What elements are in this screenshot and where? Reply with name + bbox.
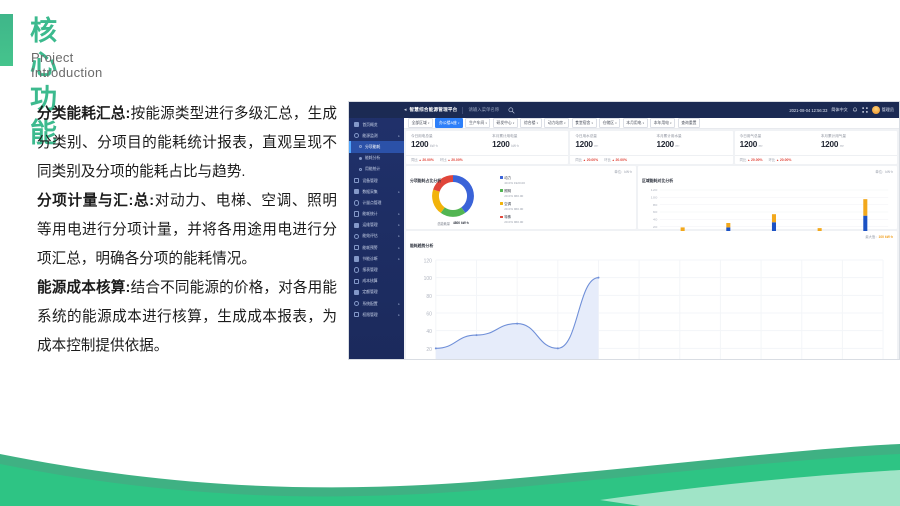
donut-panel-title: 分项能耗占比分析 [410,178,441,183]
kpi-value: 1200 [575,140,592,149]
sidebar-item-label: 用能统计 [365,166,380,172]
filter-tab-2[interactable]: 生产车间▾ [465,118,490,127]
avatar [872,106,880,114]
bar-ytick: 60 [653,211,658,214]
filter-tab-label: 生产车间 [469,121,484,126]
sidebar-item-13[interactable]: 报表管理 [349,264,404,275]
area-chart-panel: 能耗趋势分析 最大值：100 kW·h 02040608010012001020… [406,231,897,359]
bar-ytick: 100 [651,196,658,199]
filter-tab-label: 综合楼 [524,121,535,126]
gauge-icon [354,234,359,239]
area-ytick: 100 [424,276,433,282]
donut-chart-panel: 分项能耗占比分析 单位：kW·h 总能耗量 4800 kW·h 动力40.0% … [406,166,636,229]
legend-top: 特殊 [500,214,525,219]
kpi-delta-0: 同比▲20.00% [411,157,434,162]
bell-icon[interactable] [852,107,858,113]
legend-top: 动力 [500,175,525,180]
sidebar-item-label: 能耗统计 [362,211,377,217]
delta-percent: 20.00% [616,158,628,162]
arrow-up-icon: ▲ [419,158,422,162]
sidebar-item-label: 报表管理 [362,267,377,273]
legend-label: 照明 [504,188,511,193]
kpi-delta-1: 环比▲20.00% [604,157,627,162]
kpi-card-1-0: 今日用水总量1200m³ [570,134,651,155]
kpi-unit: kW·h [430,144,438,148]
kpi-group-1: 今日用水总量1200m³本月累计用水量1200m³同比▲20.00%环比▲20.… [570,131,732,164]
meter-icon [354,200,359,205]
kpi-footer: 同比▲20.00%环比▲20.00% [570,155,732,164]
filter-tab-8[interactable]: 本月用电▾ [623,118,648,127]
data-icon [354,189,359,194]
chevron-right-icon: ▸ [398,223,400,227]
sidebar-item-17[interactable]: 权限管理▸ [349,309,404,320]
sidebar-item-2[interactable]: 分项能耗 [349,141,404,152]
username-label: 管理员 [882,107,894,113]
chevron-down-icon: ▾ [485,121,486,125]
settings-icon [354,301,359,306]
top-navbar: ◂ 智慧综合能源管理平台 请输入菜单名称 2021-08-04 12:56:33… [349,102,899,118]
bar-segment-4-1 [863,199,867,216]
chart-icon [354,211,359,216]
legend-sublabel: 40.0% 1920.00 [504,181,525,185]
chevron-right-icon: ▸ [398,190,400,194]
kpi-value-row: 1200kW·h [411,140,487,149]
area-panel-title: 能耗趋势分析 [410,243,433,248]
kpi-footer: 同比▲20.00%环比▲20.00% [735,155,897,164]
sidebar-item-label: 成本核算 [362,278,377,284]
sidebar-item-label: 能耗预警 [362,245,377,251]
filter-tab-1[interactable]: 办公楼A座▾ [435,118,463,127]
kpi-value: 1200 [740,140,757,149]
area-point-0 [435,347,437,349]
unit-value: kW·h [624,170,632,174]
cost-icon [354,279,359,284]
bar-segment-2-1 [772,214,776,222]
kpi-unit: m³ [840,144,844,148]
donut-unit-label: 单位：kW·h [614,169,632,174]
area-ytick: 120 [424,258,433,264]
chevron-down-icon: ▾ [564,121,565,125]
legend-item-2[interactable]: 空调20.0% 960.00 [500,201,525,211]
bar-panel-title: 区域能耗对比分析 [642,178,673,183]
legend-swatch [500,216,503,219]
donut-total-value: 4800 kW·h [453,221,469,226]
area-point-2 [516,323,518,325]
donut-legend: 动力40.0% 1920.00照明20.0% 960.00空调20.0% 960… [500,175,525,224]
chevron-right-icon: ▸ [398,313,400,317]
kpi-label: 本月累计用电量 [492,134,568,139]
legend-item-3[interactable]: 特殊20.0% 960.00 [500,214,525,224]
sidebar-item-4[interactable]: 用能统计 [349,164,404,175]
filter-tab-label: 本年用电 [654,121,669,126]
sidebar-item-label: 运维管理 [362,222,377,228]
chevron-down-icon: ▾ [458,121,459,125]
paragraph-1: 分类能耗汇总:按能源类型进行多级汇总，生成分类别、分项目的能耗统计报表，直观呈现… [37,100,337,187]
kpi-value-row: 1200m³ [575,140,651,149]
kpi-value: 1200 [821,140,838,149]
legend-label: 动力 [504,175,511,180]
legend-item-0[interactable]: 动力40.0% 1920.00 [500,175,525,185]
language-switcher[interactable]: 简体中文 [831,107,847,113]
bar-unit-label: 单位：kW·h [875,169,893,174]
sidebar-item-label: 首页概览 [362,122,377,128]
delta-percent: 20.00% [451,158,463,162]
unit-value: kW·h [885,170,893,174]
area-ytick: 60 [426,311,432,317]
filter-tab-10[interactable]: 查询重置 [678,118,700,127]
legend-sublabel: 20.0% 960.00 [504,220,525,224]
paragraph-3: 能源成本核算:结合不同能源的价格，对各用能系统的能源成本进行核算，生成成本报表，… [37,274,337,361]
kpi-footer: 同比▲20.00%环比▲20.00% [406,155,568,164]
kpi-value-row: 1200m³ [821,140,897,149]
sidebar-item-label: 计量点管理 [362,200,381,206]
chart-row: 分项能耗占比分析 单位：kW·h 总能耗量 4800 kW·h 动力40.0% … [404,164,899,229]
kpi-unit: m³ [676,144,680,148]
tools-icon [354,223,359,228]
search-input[interactable]: 请输入菜单名称 [468,107,499,113]
filter-tab-label: 全部区域 [412,121,427,126]
chevron-down-icon: ▾ [592,121,593,125]
auth-icon [354,312,359,317]
paragraph-3-lead: 能源成本核算: [37,280,130,296]
area-point-3 [557,347,559,349]
kpi-card-2-1: 本月累计用气量1200m³ [816,134,897,155]
kpi-card-0-0: 今日用电总量1200kW·h [406,134,487,155]
sidebar-item-label: 节能诊断 [362,256,377,262]
dashboard-icon [354,122,359,127]
max-prefix: 最大值： [865,235,878,239]
diagnose-icon [354,256,359,261]
bullet-icon [359,168,362,171]
arrow-up-icon: ▲ [612,158,615,162]
sidebar-item-14[interactable]: 成本核算 [349,276,404,287]
collapse-icon[interactable]: ◂ [404,107,407,113]
arrow-up-icon: ▲ [447,158,450,162]
arrow-up-icon: ▲ [583,158,586,162]
sidebar-item-label: 系统配置 [362,301,377,307]
legend-sublabel: 20.0% 960.00 [504,194,525,198]
sidebar-item-label: 能源监测 [362,133,377,139]
chevron-right-icon: ▸ [398,212,400,216]
filter-tab-7[interactable]: 仓储区▾ [599,118,620,127]
delta-name: 同比 [740,157,747,162]
sidebar-item-15[interactable]: 定额管理 [349,287,404,298]
search-icon[interactable] [508,107,515,114]
bullet-icon [359,157,362,160]
bar-chart-panel: 区域能耗对比分析 单位：kW·h 020406080100120A区B区C区D区… [638,166,897,229]
quota-icon [354,290,359,295]
kpi-value-row: 1200kW·h [492,140,568,149]
sidebar-item-label: 数据采集 [362,189,377,195]
delta-percent: 20.00% [422,158,434,162]
sidebar: 首页概览能源监测▸分项能耗能耗分析用能统计设备管理数据采集▸计量点管理能耗统计▸… [349,102,404,360]
chevron-down-icon: ▾ [643,121,644,125]
area-point-4 [597,277,599,279]
filter-tab-0[interactable]: 全部区域▾ [408,118,433,127]
sidebar-item-7[interactable]: 计量点管理 [349,197,404,208]
filter-tab-6[interactable]: 食堂宿舍▾ [572,118,597,127]
kpi-group-0: 今日用电总量1200kW·h本月累计用电量1200kW·h同比▲20.00%环比… [406,131,568,164]
divider [462,107,463,114]
delta-name: 环比 [769,157,776,162]
donut-segment-0 [453,179,470,211]
kpi-label: 本月累计用水量 [657,134,733,139]
bar-ytick: 120 [651,189,658,192]
chevron-down-icon: ▾ [670,121,671,125]
report-icon [354,267,359,272]
area-ytick: 20 [426,347,432,353]
chevron-down-icon: ▾ [513,121,514,125]
filter-tab-label: 食堂宿舍 [575,121,590,126]
sidebar-item-12[interactable]: 节能诊断▸ [349,253,404,264]
filter-tab-label: 本月用电 [626,121,641,126]
kpi-cards: 今日用水总量1200m³本月累计用水量1200m³ [570,134,732,155]
kpi-card-2-0: 今日用气总量1200m³ [735,134,816,155]
legend-top: 空调 [500,201,525,206]
delta-percent: 20.00% [780,158,792,162]
chevron-down-icon: ▾ [615,121,616,125]
filter-tab-5[interactable]: 动力站房▾ [544,118,569,127]
page-subtitle: Project Introduction [31,50,103,80]
legend-label: 特殊 [504,214,511,219]
paragraph-1-lead: 分类能耗汇总: [37,106,130,122]
user-menu[interactable]: 管理员 [872,106,894,114]
sidebar-item-16[interactable]: 系统配置▸ [349,298,404,309]
sidebar-item-label: 能耗分析 [365,155,380,161]
chevron-down-icon: ▾ [537,121,538,125]
legend-item-1[interactable]: 照明20.0% 960.00 [500,188,525,198]
sidebar-item-8[interactable]: 能耗统计▸ [349,209,404,220]
sidebar-item-3[interactable]: 能耗分析 [349,153,404,164]
paragraph-2-lead: 分项计量与汇:总: [37,193,154,209]
area-ytick: 80 [426,294,432,300]
kpi-unit: m³ [759,144,763,148]
clock-text: 2021-08-04 12:56:33 [789,108,827,113]
kpi-value-row: 1200m³ [740,140,816,149]
kpi-row: 今日用电总量1200kW·h本月累计用电量1200kW·h同比▲20.00%环比… [404,129,899,164]
filter-tab-label: 查询重置 [681,121,696,126]
area-max-label: 最大值：100 kW·h [865,234,893,239]
filter-tab-label: 研发中心 [497,121,512,126]
title-accent-bar [0,14,13,66]
filter-tab-9[interactable]: 本年用电▾ [650,118,675,127]
sidebar-item-1[interactable]: 能源监测▸ [349,130,404,141]
donut-total-label: 总能耗量 [437,221,450,226]
kpi-card-1-1: 本月累计用水量1200m³ [652,134,733,155]
delta-name: 环比 [604,157,611,162]
paragraph-2: 分项计量与汇:总:对动力、电梯、空调、照明等用电进行分项计量，并将各用途用电进行… [37,187,337,274]
sidebar-item-label: 定额管理 [362,289,377,295]
chevron-right-icon: ▸ [398,257,400,261]
monitor-icon [354,133,359,138]
body-copy: 分类能耗汇总:按能源类型进行多级汇总，生成分类别、分项目的能耗统计报表，直观呈现… [37,100,337,361]
chevron-right-icon: ▸ [398,134,400,138]
legend-swatch [500,202,503,205]
kpi-delta-1: 环比▲20.00% [769,157,792,162]
chevron-down-icon: ▾ [428,121,429,125]
legend-swatch [500,176,503,179]
bar-segment-1-1 [726,223,730,227]
bar-ytick: 80 [653,204,658,207]
sidebar-item-label: 设备管理 [362,178,377,184]
kpi-delta-1: 环比▲20.00% [440,157,463,162]
delta-percent: 20.00% [751,158,763,162]
filter-tab-4[interactable]: 综合楼▾ [520,118,541,127]
kpi-unit: m³ [594,144,598,148]
fullscreen-icon[interactable] [862,107,868,113]
kpi-value-row: 1200m³ [657,140,733,149]
kpi-label: 今日用气总量 [740,134,816,139]
sidebar-item-6[interactable]: 数据采集▸ [349,186,404,197]
donut-total-caption: 总能耗量 4800 kW·h [437,221,469,226]
delta-percent: 20.00% [587,158,599,162]
arrow-up-icon: ▲ [776,158,779,162]
alarm-icon [354,245,359,250]
bullet-icon [359,145,362,148]
area-point-1 [476,334,478,336]
max-value: 100 kW·h [879,235,893,239]
sidebar-item-10[interactable]: 能效评估▸ [349,231,404,242]
sidebar-item-0[interactable]: 首页概览 [349,119,404,130]
area-ytick: 40 [426,329,432,335]
legend-label: 空调 [504,201,511,206]
kpi-label: 今日用电总量 [411,134,487,139]
sidebar-item-9[interactable]: 运维管理▸ [349,220,404,231]
kpi-value: 1200 [411,140,428,149]
chevron-right-icon: ▸ [398,302,400,306]
delta-name: 同比 [411,157,418,162]
unit-prefix: 单位： [875,170,885,174]
kpi-group-2: 今日用气总量1200m³本月累计用气量1200m³同比▲20.00%环比▲20.… [735,131,897,164]
area-chart-svg: 020406080100120010203040506070809101112 [410,252,893,359]
delta-name: 环比 [440,157,447,162]
sidebar-item-label: 能效评估 [362,233,377,239]
filter-tab-3[interactable]: 研发中心▾ [493,118,518,127]
kpi-label: 本月累计用气量 [821,134,897,139]
kpi-value: 1200 [657,140,674,149]
legend-sublabel: 20.0% 960.00 [504,207,525,211]
kpi-value: 1200 [492,140,509,149]
main-content: 全部区域▾办公楼A座▾生产车间▾研发中心▾综合楼▾动力站房▾食堂宿舍▾仓储区▾本… [404,118,899,359]
filter-tab-label: 动力站房 [548,121,563,126]
filter-tab-label: 办公楼A座 [439,121,457,126]
sidebar-item-label: 权限管理 [362,312,377,318]
sidebar-item-5[interactable]: 设备管理 [349,175,404,186]
app-title: 智慧综合能源管理平台 [410,107,458,113]
kpi-unit: kW·h [511,144,519,148]
legend-swatch [500,189,503,192]
legend-top: 照明 [500,188,525,193]
decorative-wave [0,426,900,506]
donut-segment-1 [443,210,464,213]
arrow-up-icon: ▲ [747,158,750,162]
unit-prefix: 单位： [614,170,624,174]
dashboard-screenshot: 首页概览能源监测▸分项能耗能耗分析用能统计设备管理数据采集▸计量点管理能耗统计▸… [348,101,900,360]
chevron-right-icon: ▸ [398,234,400,238]
kpi-label: 今日用水总量 [575,134,651,139]
kpi-cards: 今日用电总量1200kW·h本月累计用电量1200kW·h [406,134,568,155]
delta-name: 同比 [575,157,582,162]
grid-icon [354,178,359,183]
chevron-right-icon: ▸ [398,246,400,250]
donut-segment-2 [436,191,443,211]
sidebar-item-11[interactable]: 能耗预警▸ [349,242,404,253]
kpi-card-0-1: 本月累计用电量1200kW·h [487,134,568,155]
kpi-cards: 今日用气总量1200m³本月累计用气量1200m³ [735,134,897,155]
filter-tab-strip: 全部区域▾办公楼A座▾生产车间▾研发中心▾综合楼▾动力站房▾食堂宿舍▾仓储区▾本… [404,118,899,129]
kpi-delta-0: 同比▲20.00% [575,157,598,162]
sidebar-item-label: 分项能耗 [365,144,380,150]
bar-ytick: 20 [653,226,658,229]
bar-ytick: 40 [653,218,658,221]
filter-tab-label: 仓储区 [603,121,614,126]
kpi-delta-0: 同比▲20.00% [740,157,763,162]
